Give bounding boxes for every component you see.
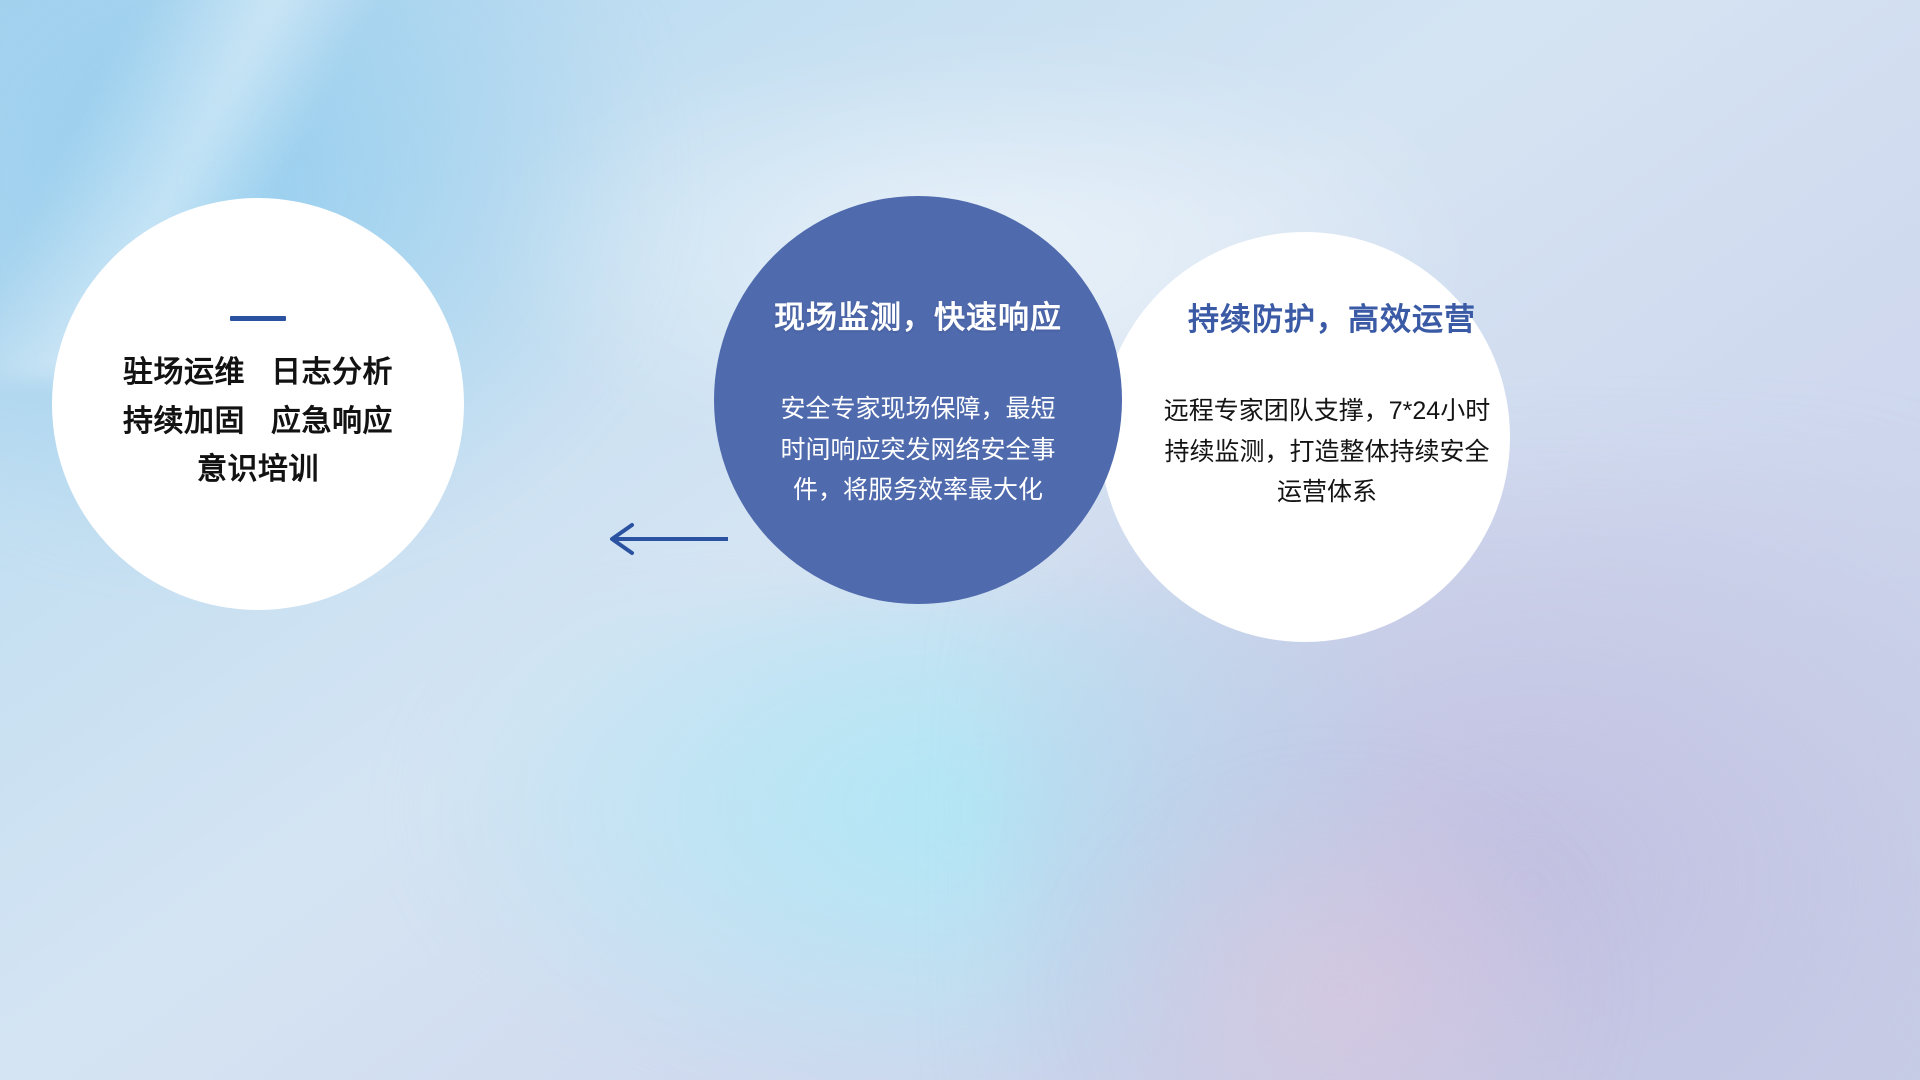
capability-item-yishipeixun: 意识培训	[197, 453, 319, 486]
left-arrow-icon	[598, 516, 728, 562]
capability-item-zhuchangyunwei: 驻场运维	[123, 356, 245, 389]
capability-item-yingjixiangying: 应急响应	[271, 405, 393, 438]
capability-row-2: 持续加固应急响应	[123, 406, 393, 438]
right-service-circle[interactable]: 持续防护，高效运营 远程专家团队支撑，7*24小时持续监测，打造整体持续安全运营…	[1100, 232, 1510, 642]
capability-item-rizhifenxi: 日志分析	[271, 356, 393, 389]
mid-circle-body: 安全专家现场保障，最短时间响应突发网络安全事件，将服务效率最大化	[773, 389, 1063, 511]
mid-circle-heading: 现场监测，快速响应	[774, 292, 1062, 337]
background-glow-pink	[1080, 780, 1600, 1080]
right-circle-body: 远程专家团队支撑，7*24小时持续监测，打造整体持续安全运营体系	[1162, 391, 1492, 513]
left-capability-circle[interactable]: 驻场运维日志分析 持续加固应急响应 意识培训	[52, 198, 464, 610]
capability-item-chixujiagu: 持续加固	[123, 405, 245, 438]
capability-row-1: 驻场运维日志分析	[123, 357, 393, 389]
capability-row-3: 意识培训	[197, 454, 319, 486]
dash-accent-icon	[230, 316, 286, 321]
capability-list: 驻场运维日志分析 持续加固应急响应 意识培训	[123, 357, 393, 486]
slide-canvas: 驻场运维日志分析 持续加固应急响应 意识培训 持续防护，高效运营 远程专家团队支…	[0, 0, 1920, 1080]
mid-service-circle[interactable]: 现场监测，快速响应 安全专家现场保障，最短时间响应突发网络安全事件，将服务效率最…	[714, 196, 1122, 604]
right-circle-heading: 持续防护，高效运营	[1188, 294, 1476, 339]
